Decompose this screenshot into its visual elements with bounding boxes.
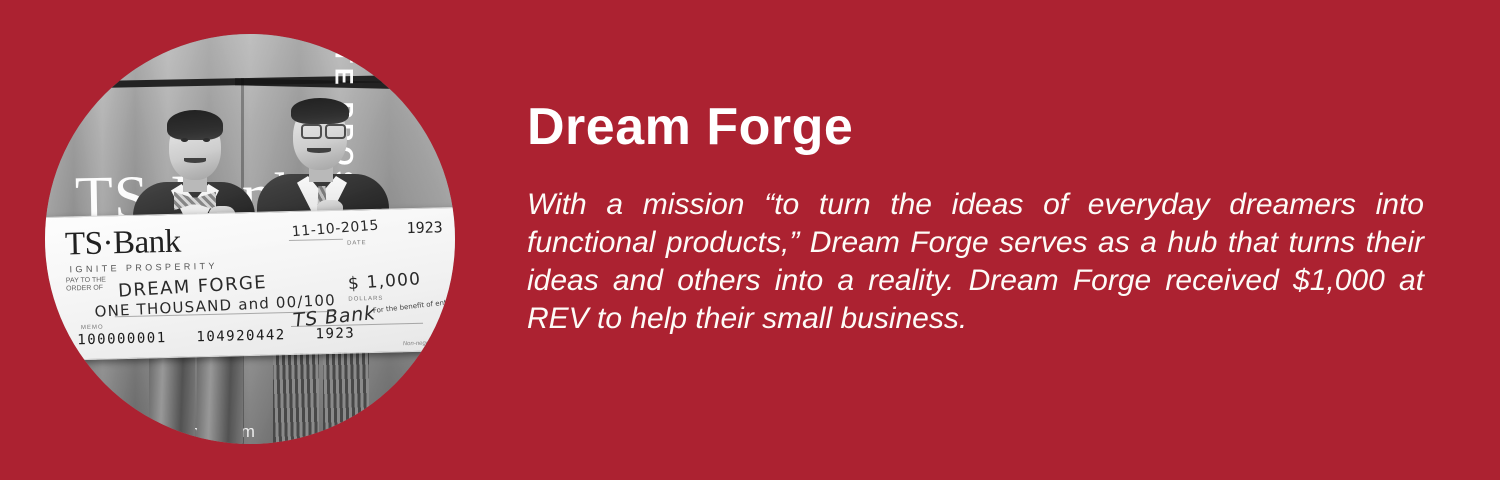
- photo-circle: TS·Bank tsbank.com IGNITE PROSPERITY: [45, 34, 455, 444]
- right-man-glasses-lens-a: [301, 124, 322, 139]
- cheque-bank-name: TS·Bank: [65, 224, 182, 264]
- right-man-smile: [307, 148, 331, 153]
- left-man-eye-b: [203, 138, 210, 142]
- cheque-fine-print: Non-negotiable: [403, 340, 444, 347]
- right-man-glasses-lens-b: [325, 124, 346, 139]
- right-man-hair: [291, 98, 349, 124]
- cheque-amount-figure: $ 1,000: [347, 269, 421, 294]
- text-block: Dream Forge With a mission “to turn the …: [527, 96, 1424, 338]
- cheque-micr-line: 100000001 104920442 1923: [77, 325, 355, 348]
- page-title: Dream Forge: [527, 96, 1424, 158]
- cheque-pay-to-label: PAY TO THE ORDER OF: [66, 276, 106, 293]
- body-paragraph: With a mission “to turn the ideas of eve…: [527, 186, 1424, 338]
- presentation-cheque: TS·Bank IGNITE PROSPERITY PAY TO THE ORD…: [45, 207, 455, 361]
- promo-card: TS·Bank tsbank.com IGNITE PROSPERITY: [0, 0, 1500, 480]
- cheque-number: 1923: [406, 218, 443, 237]
- cheque-date-rule: [289, 239, 343, 241]
- left-man-eye-a: [181, 138, 188, 142]
- cheque-date-label: DATE: [347, 240, 367, 246]
- photo-image: TS·Bank tsbank.com IGNITE PROSPERITY: [45, 34, 455, 444]
- cheque-dollars-label: DOLLARS: [348, 296, 383, 303]
- left-man-hair: [167, 110, 223, 140]
- cheque-date: 11-10-2015: [291, 218, 379, 241]
- left-man-smile: [184, 158, 206, 163]
- cheque-memo-label: MEMO: [81, 325, 104, 332]
- cheque-signature-note: For the benefit of entrepreneurs: [372, 294, 455, 314]
